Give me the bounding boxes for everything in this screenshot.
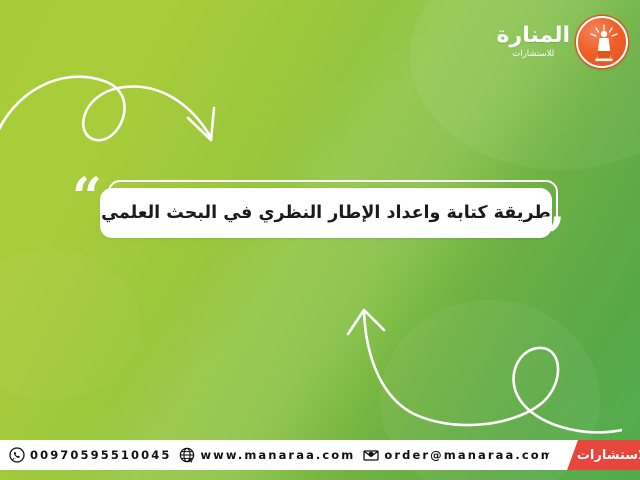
title-block: “ طريقة كتابة واعداد الإطار النظري في ال… xyxy=(80,180,570,258)
lighthouse-icon xyxy=(576,16,628,68)
brand-logo-wordmark: المنارة للاستشارات xyxy=(497,25,570,59)
envelope-icon xyxy=(362,447,379,464)
quote-open-icon: “ xyxy=(72,172,102,224)
poster-canvas: المنارة للاستشارات xyxy=(0,0,640,480)
hashtag-badge[interactable]: #المنارة_للاستشارات xyxy=(555,440,640,470)
brand-logo: المنارة للاستشارات xyxy=(497,16,628,68)
contact-website[interactable]: www.manaraa.com xyxy=(178,447,355,464)
page-title: طريقة كتابة واعداد الإطار النظري في البح… xyxy=(101,203,551,223)
contact-list: 00970595510045 www.manaraa.com xyxy=(0,447,555,464)
globe-icon xyxy=(178,447,195,464)
website-url: www.manaraa.com xyxy=(200,448,355,462)
hashtag-text: #المنارة_للاستشارات xyxy=(577,448,640,463)
whatsapp-icon xyxy=(8,447,25,464)
email-address: order@manaraa.com xyxy=(384,448,554,462)
brand-logo-name: المنارة xyxy=(497,25,570,47)
title-card: طريقة كتابة واعداد الإطار النظري في البح… xyxy=(100,188,552,238)
curved-loop-arrow-up-left-icon xyxy=(322,288,622,438)
contact-email[interactable]: order@manaraa.com xyxy=(362,447,554,464)
brand-logo-tagline: للاستشارات xyxy=(512,50,554,59)
background-blob xyxy=(0,250,140,400)
curved-loop-arrow-down-right-icon xyxy=(0,36,242,166)
contact-footer: 00970595510045 www.manaraa.com xyxy=(0,440,640,470)
quote-close-icon: ” xyxy=(535,212,565,264)
contact-phone[interactable]: 00970595510045 xyxy=(8,447,171,464)
phone-number: 00970595510045 xyxy=(30,448,171,462)
